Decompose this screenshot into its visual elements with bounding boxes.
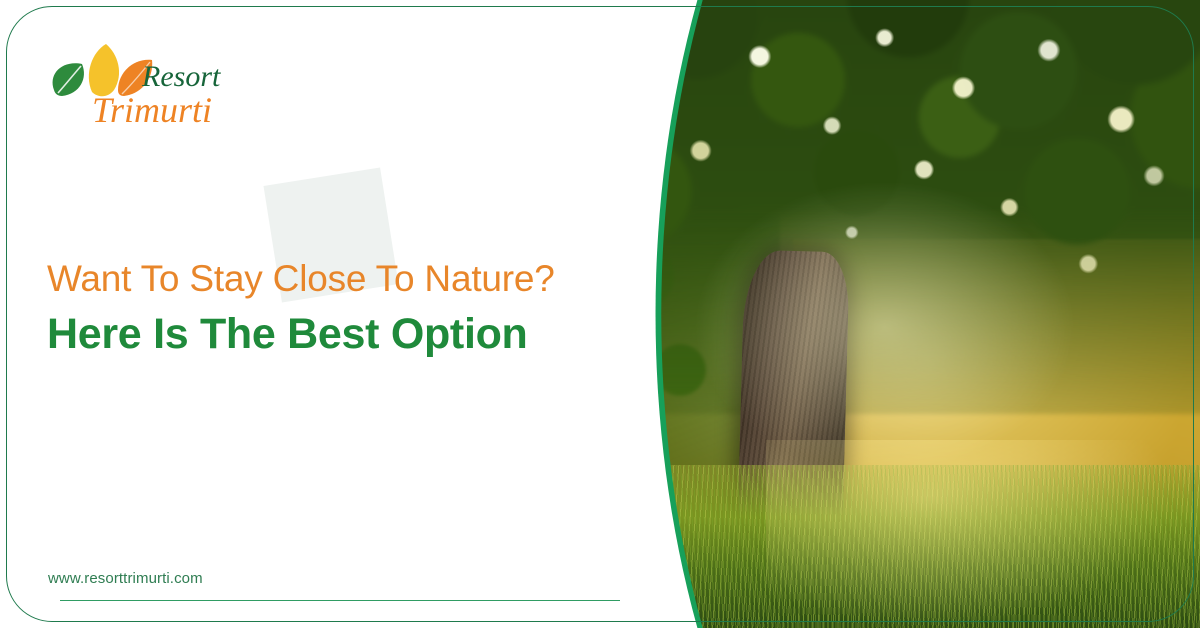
website-url[interactable]: www.resorttrimurti.com [48,570,203,588]
footer-divider [60,600,620,601]
logo-word-resort: Resort [141,60,221,93]
headline-line-1: Want To Stay Close To Nature? [47,256,587,302]
website-url-text: www.resorttrimurti.com [48,570,203,587]
logo-svg: Resort Trimurti [44,38,244,134]
photo-sun-haze [543,0,1200,628]
leaf-yellow-icon [89,44,119,96]
headline-line-2: Here Is The Best Option [47,306,587,362]
logo-word-trimurti: Trimurti [92,90,212,130]
brand-logo[interactable]: Resort Trimurti [44,38,244,134]
hero-photo-panel [536,0,1200,628]
hero-photo [543,0,1200,628]
headline-block: Want To Stay Close To Nature? Here Is Th… [47,256,587,362]
promo-banner: Resort Trimurti Want To Stay Close To Na… [0,0,1200,628]
